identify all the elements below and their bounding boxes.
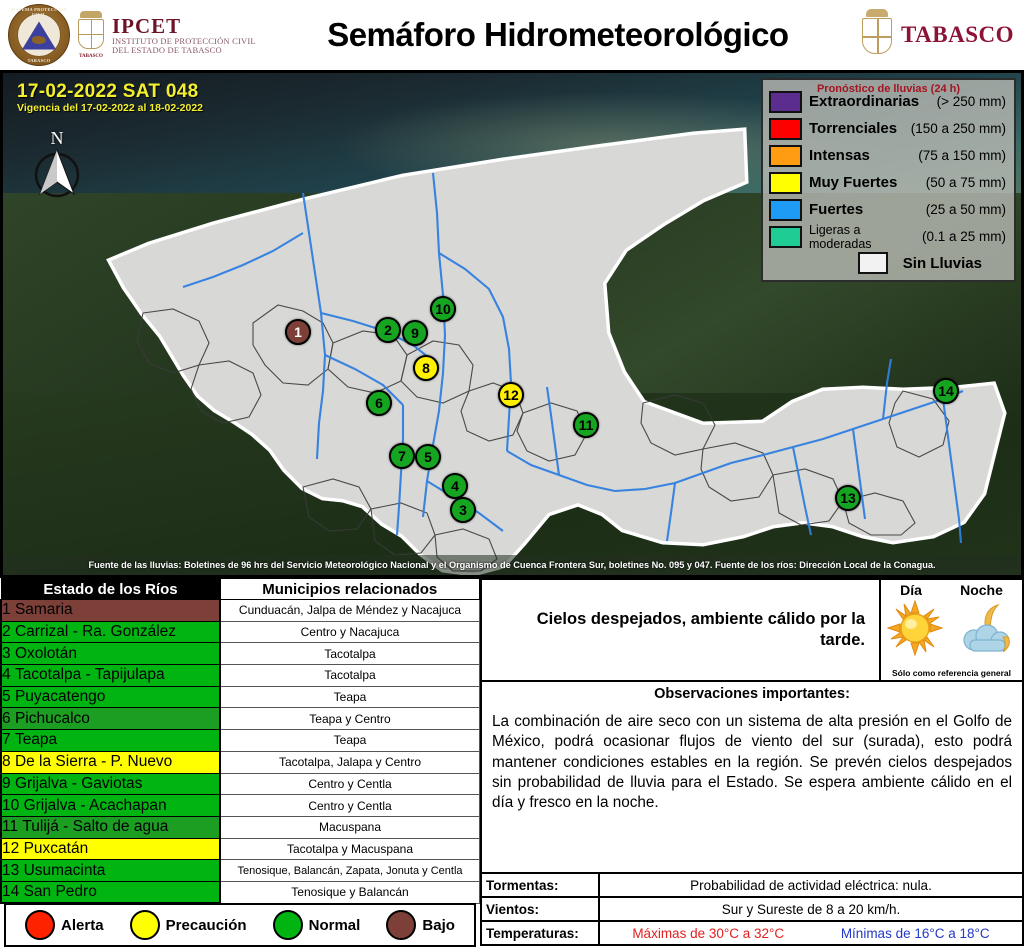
river-municipios: Teapa	[220, 686, 480, 708]
legend-label-ligeras-moderadas: Ligeras a moderadas	[802, 223, 922, 251]
map-marker-12[interactable]: 12	[498, 382, 524, 408]
river-number: 14	[2, 883, 19, 900]
river-status-legend: Alerta Precaución Normal Bajo	[4, 903, 476, 947]
map-marker-4[interactable]: 4	[442, 473, 468, 499]
map-marker-3[interactable]: 3	[450, 497, 476, 523]
rivers-table: Estado de los Ríos Municipios relacionad…	[0, 578, 480, 904]
marker-label: 5	[424, 449, 432, 465]
page-title: Semáforo Hidrometeorológico	[256, 16, 860, 54]
table-row[interactable]: 5 Puyacatengo Teapa	[1, 686, 480, 708]
temperatura-minima: Mínimas de 16°C a 18°C	[841, 926, 990, 941]
legend-swatch-sin-lluvias	[858, 252, 888, 274]
status-legend-item-bajo: Bajo	[386, 910, 455, 940]
reference-note: Sólo como referencia general	[892, 668, 1011, 678]
legend-swatch-extraordinarias	[769, 91, 802, 113]
weather-summary-row: Cielos despejados, ambiente cálido por l…	[480, 578, 1024, 682]
river-number: 11	[2, 818, 18, 835]
river-number: 12	[2, 840, 19, 857]
river-municipios: Tacotalpa	[220, 643, 480, 665]
observations-title: Observaciones importantes:	[492, 686, 1012, 702]
table-row[interactable]: 11 Tulijá - Salto de agua Macuspana	[1, 816, 480, 838]
legend-label-fuertes: Fuertes	[802, 201, 926, 218]
river-municipios: Tacotalpa, Jalapa y Centro	[220, 751, 480, 773]
status-legend-item-precaucion: Precaución	[130, 910, 247, 940]
day-label: Día	[900, 582, 922, 598]
status-label-normal: Normal	[309, 917, 361, 934]
marker-label: 4	[451, 478, 459, 494]
marker-label: 9	[411, 325, 419, 341]
river-name: Oxolotán	[15, 645, 77, 662]
map-marker-5[interactable]: 5	[415, 444, 441, 470]
legend-swatch-torrenciales	[769, 118, 802, 140]
table-row[interactable]: 8 De la Sierra - P. Nuevo Tacotalpa, Jal…	[1, 751, 480, 773]
river-name: Samaria	[15, 601, 73, 618]
temperaturas-key: Temperaturas:	[481, 921, 599, 945]
status-dot-precaucion	[130, 910, 160, 940]
sky-summary-cell: Cielos despejados, ambiente cálido por l…	[480, 578, 879, 680]
seal-top-text: SISTEMA PROTECCIÓN CIVIL	[8, 7, 70, 17]
river-number: 4	[2, 666, 11, 683]
shield-label: TABASCO	[76, 54, 106, 59]
table-row[interactable]: 4 Tacotalpa - Tapijulapa Tacotalpa	[1, 665, 480, 687]
table-row[interactable]: 12 Puxcatán Tacotalpa y Macuspana	[1, 838, 480, 860]
night-label: Noche	[960, 582, 1003, 598]
table-row[interactable]: 7 Teapa Teapa	[1, 730, 480, 752]
map-date-block: 17-02-2022 SAT 048 Vigencia del 17-02-20…	[17, 81, 203, 114]
table-row[interactable]: 10 Grijalva - Acachapan Centro y Centla	[1, 795, 480, 817]
river-name: Tacotalpa - Tapijulapa	[15, 666, 165, 683]
legend-range-intensas: (75 a 150 mm)	[918, 148, 1008, 163]
map-marker-11[interactable]: 11	[573, 412, 599, 438]
map-date-main: 17-02-2022 SAT 048	[17, 81, 203, 103]
river-number: 9	[2, 775, 11, 792]
map-marker-7[interactable]: 7	[389, 443, 415, 469]
river-name: Teapa	[15, 731, 57, 748]
weather-row-vientos: Vientos: Sur y Sureste de 8 a 20 km/h.	[481, 897, 1023, 921]
rainfall-forecast-map[interactable]: 17-02-2022 SAT 048 Vigencia del 17-02-20…	[0, 70, 1024, 578]
sky-summary-text: Cielos despejados, ambiente cálido por l…	[496, 609, 865, 652]
table-row[interactable]: 1 Samaria Cunduacán, Jalpa de Méndez y N…	[1, 600, 480, 622]
observations-section: Observaciones importantes: La combinació…	[480, 682, 1024, 872]
river-number: 13	[2, 862, 19, 879]
legend-swatch-fuertes	[769, 199, 802, 221]
tabasco-wordmark: TABASCO	[901, 22, 1014, 48]
map-marker-2[interactable]: 2	[375, 317, 401, 343]
legend-label-sin-lluvias: Sin Lluvias	[896, 255, 982, 272]
legend-range-ligeras-moderadas: (0.1 a 25 mm)	[922, 229, 1008, 244]
status-dot-normal	[273, 910, 303, 940]
tormentas-value: Probabilidad de actividad eléctrica: nul…	[599, 873, 1023, 897]
river-municipios: Macuspana	[220, 816, 480, 838]
table-row[interactable]: 2 Carrizal - Ra. González Centro y Nacaj…	[1, 621, 480, 643]
legend-swatch-intensas	[769, 145, 802, 167]
legend-range-torrenciales: (150 a 250 mm)	[911, 121, 1008, 136]
map-marker-10[interactable]: 10	[430, 296, 456, 322]
proteccion-civil-seal-icon: SISTEMA PROTECCIÓN CIVIL TABASCO	[8, 4, 70, 66]
river-name: Pichucalco	[15, 710, 90, 727]
table-row[interactable]: 3 Oxolotán Tacotalpa	[1, 643, 480, 665]
river-municipios: Tacotalpa	[220, 665, 480, 687]
map-marker-13[interactable]: 13	[835, 485, 861, 511]
river-municipios: Teapa	[220, 730, 480, 752]
observations-text: La combinación de aire seco con un siste…	[492, 712, 1012, 814]
legend-swatch-muy-fuertes	[769, 172, 802, 194]
ipcet-logotype: IPCET INSTITUTO DE PROTECCIÓN CIVIL DEL …	[112, 15, 256, 55]
status-label-alerta: Alerta	[61, 917, 104, 934]
legend-range-muy-fuertes: (50 a 75 mm)	[926, 175, 1008, 190]
north-arrow-icon: N	[27, 128, 87, 198]
marker-label: 2	[384, 322, 392, 338]
legend-swatch-ligeras-moderadas	[769, 226, 802, 248]
river-name: Puyacatengo	[15, 688, 106, 705]
tabasco-government-shield-icon	[860, 9, 894, 61]
river-municipios: Tenosique, Balancán, Zapata, Jonuta y Ce…	[220, 860, 480, 882]
river-name: Grijalva - Acachapan	[24, 797, 167, 814]
legend-row-torrenciales: Torrenciales (150 a 250 mm)	[769, 115, 1008, 142]
north-letter: N	[27, 128, 87, 149]
moon-cloud-icon	[956, 600, 1016, 656]
status-dot-bajo	[386, 910, 416, 940]
tabasco-shield-icon: TABASCO	[76, 11, 106, 59]
river-municipios: Centro y Centla	[220, 773, 480, 795]
weather-row-tormentas: Tormentas: Probabilidad de actividad elé…	[481, 873, 1023, 897]
legend-label-intensas: Intensas	[802, 147, 918, 164]
legend-row-muy-fuertes: Muy Fuertes (50 a 75 mm)	[769, 169, 1008, 196]
semaforo-hidrometeorologico-page: SISTEMA PROTECCIÓN CIVIL TABASCO TABASCO…	[0, 0, 1024, 949]
marker-label: 7	[398, 448, 406, 464]
status-label-precaucion: Precaución	[166, 917, 247, 934]
status-dot-alerta	[25, 910, 55, 940]
river-municipios: Tacotalpa y Macuspana	[220, 838, 480, 860]
river-municipios: Teapa y Centro	[220, 708, 480, 730]
table-row[interactable]: 13 Usumacinta Tenosique, Balancán, Zapat…	[1, 860, 480, 882]
weather-row-temperaturas: Temperaturas: Máximas de 30°C a 32°C Mín…	[481, 921, 1023, 945]
marker-label: 12	[503, 387, 519, 403]
rivers-table-header-state: Estado de los Ríos	[1, 579, 220, 600]
map-marker-9[interactable]: 9	[402, 320, 428, 346]
legend-row-extraordinarias: Extraordinarias (> 250 mm)	[769, 88, 1008, 115]
sun-icon	[887, 600, 943, 656]
header-right-logos: TABASCO	[860, 9, 1024, 61]
marker-label: 14	[938, 383, 954, 399]
legend-row-fuertes: Fuertes (25 a 50 mm)	[769, 196, 1008, 223]
river-name: Puxcatán	[24, 840, 89, 857]
legend-range-fuertes: (25 a 50 mm)	[926, 202, 1008, 217]
river-number: 6	[2, 710, 11, 727]
river-number: 5	[2, 688, 11, 705]
weather-details-table: Tormentas: Probabilidad de actividad elé…	[480, 872, 1024, 946]
marker-label: 6	[375, 395, 383, 411]
legend-range-extraordinarias: (> 250 mm)	[937, 94, 1008, 109]
temperatura-maxima: Máximas de 30°C a 32°C	[632, 926, 784, 941]
river-name: Tulijá - Salto de agua	[22, 818, 168, 835]
river-municipios: Cunduacán, Jalpa de Méndez y Nacajuca	[220, 600, 480, 622]
marker-label: 1	[294, 324, 302, 340]
rainfall-legend: Pronóstico de lluvias (24 h) Extraordina…	[761, 78, 1016, 282]
bottom-section: Estado de los Ríos Municipios relacionad…	[0, 578, 1024, 949]
river-name: De la Sierra - P. Nuevo	[15, 753, 172, 770]
legend-row-sin-lluvias: Sin Lluvias	[769, 250, 1008, 276]
ipcet-line2: DEL ESTADO DE TABASCO	[112, 46, 256, 55]
weather-forecast-panel: Cielos despejados, ambiente cálido por l…	[480, 578, 1024, 949]
river-municipios: Centro y Centla	[220, 795, 480, 817]
table-row[interactable]: 14 San Pedro Tenosique y Balancán	[1, 881, 480, 903]
vientos-key: Vientos:	[481, 897, 599, 921]
legend-label-torrenciales: Torrenciales	[802, 120, 911, 137]
map-marker-6[interactable]: 6	[366, 390, 392, 416]
day-night-reference: Día Noche	[879, 578, 1024, 680]
marker-label: 8	[422, 360, 430, 376]
map-source-note: Fuente de las lluvias: Boletines de 96 h…	[3, 555, 1021, 575]
legend-label-muy-fuertes: Muy Fuertes	[802, 174, 926, 191]
river-number: 10	[2, 797, 19, 814]
marker-label: 10	[435, 301, 451, 317]
river-number: 1	[2, 601, 11, 618]
legend-label-extraordinarias: Extraordinarias	[802, 93, 937, 110]
rivers-table-header-row: Estado de los Ríos Municipios relacionad…	[1, 579, 480, 600]
marker-label: 11	[579, 417, 594, 433]
river-name: Usumacinta	[24, 862, 106, 879]
legend-row-ligeras-moderadas: Ligeras a moderadas (0.1 a 25 mm)	[769, 223, 1008, 250]
page-header: SISTEMA PROTECCIÓN CIVIL TABASCO TABASCO…	[0, 0, 1024, 70]
river-name: San Pedro	[24, 883, 97, 900]
marker-label: 13	[840, 490, 856, 506]
header-left-logos: SISTEMA PROTECCIÓN CIVIL TABASCO TABASCO…	[0, 4, 256, 66]
map-marker-14[interactable]: 14	[933, 378, 959, 404]
status-legend-item-normal: Normal	[273, 910, 361, 940]
marker-label: 3	[459, 502, 467, 518]
seal-bottom-text: TABASCO	[8, 58, 70, 63]
legend-row-intensas: Intensas (75 a 150 mm)	[769, 142, 1008, 169]
river-name: Carrizal - Ra. González	[15, 623, 176, 640]
map-date-validity: Vigencia del 17-02-2022 al 18-02-2022	[17, 102, 203, 114]
river-number: 2	[2, 623, 11, 640]
river-number: 3	[2, 645, 11, 662]
river-municipios: Centro y Nacajuca	[220, 621, 480, 643]
table-row[interactable]: 9 Grijalva - Gaviotas Centro y Centla	[1, 773, 480, 795]
table-row[interactable]: 6 Pichucalco Teapa y Centro	[1, 708, 480, 730]
river-number: 8	[2, 753, 11, 770]
river-name: Grijalva - Gaviotas	[15, 775, 142, 792]
map-marker-1[interactable]: 1	[285, 319, 311, 345]
status-label-bajo: Bajo	[422, 917, 455, 934]
rivers-table-header-municipios: Municipios relacionados	[220, 579, 480, 600]
river-municipios: Tenosique y Balancán	[220, 881, 480, 903]
rivers-status-panel: Estado de los Ríos Municipios relacionad…	[0, 578, 480, 949]
vientos-value: Sur y Sureste de 8 a 20 km/h.	[599, 897, 1023, 921]
temperaturas-values: Máximas de 30°C a 32°C Mínimas de 16°C a…	[599, 921, 1023, 945]
ipcet-acronym: IPCET	[112, 15, 256, 37]
status-legend-item-alerta: Alerta	[25, 910, 104, 940]
river-number: 7	[2, 731, 11, 748]
map-marker-8[interactable]: 8	[413, 355, 439, 381]
tormentas-key: Tormentas:	[481, 873, 599, 897]
